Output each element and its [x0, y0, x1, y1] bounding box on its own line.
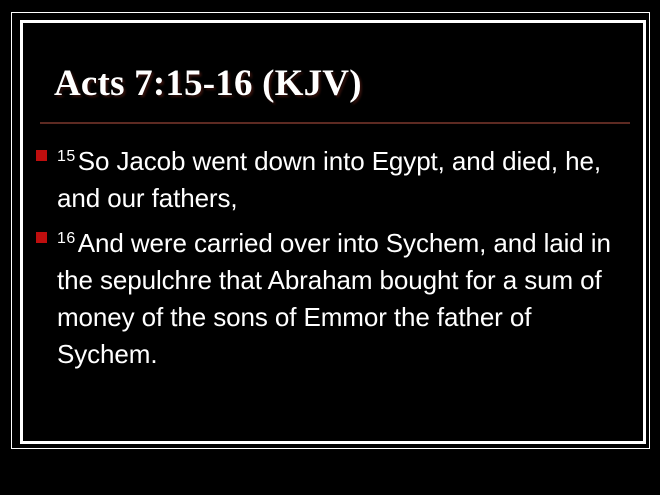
presentation-slide: Acts 7:15-16 (KJV) 15So Jacob went down … — [0, 0, 660, 495]
verse-number: 16 — [57, 230, 78, 247]
scripture-body: 15So Jacob went down into Egypt, and die… — [33, 138, 633, 375]
square-bullet-icon — [36, 232, 47, 243]
verse-number: 15 — [57, 148, 78, 165]
title-divider — [40, 122, 630, 124]
verse-text: And were carried over into Sychem, and l… — [57, 228, 611, 369]
bullet-text: 16And were carried over into Sychem, and… — [57, 220, 633, 373]
bullet-text: 15So Jacob went down into Egypt, and die… — [57, 138, 633, 217]
list-item: 15So Jacob went down into Egypt, and die… — [33, 138, 633, 217]
page-title: Acts 7:15-16 (KJV) — [54, 62, 640, 106]
title-block: Acts 7:15-16 (KJV) — [40, 62, 640, 106]
square-bullet-icon — [36, 150, 47, 161]
verse-text: So Jacob went down into Egypt, and died,… — [57, 146, 601, 213]
list-item: 16And were carried over into Sychem, and… — [33, 220, 633, 373]
